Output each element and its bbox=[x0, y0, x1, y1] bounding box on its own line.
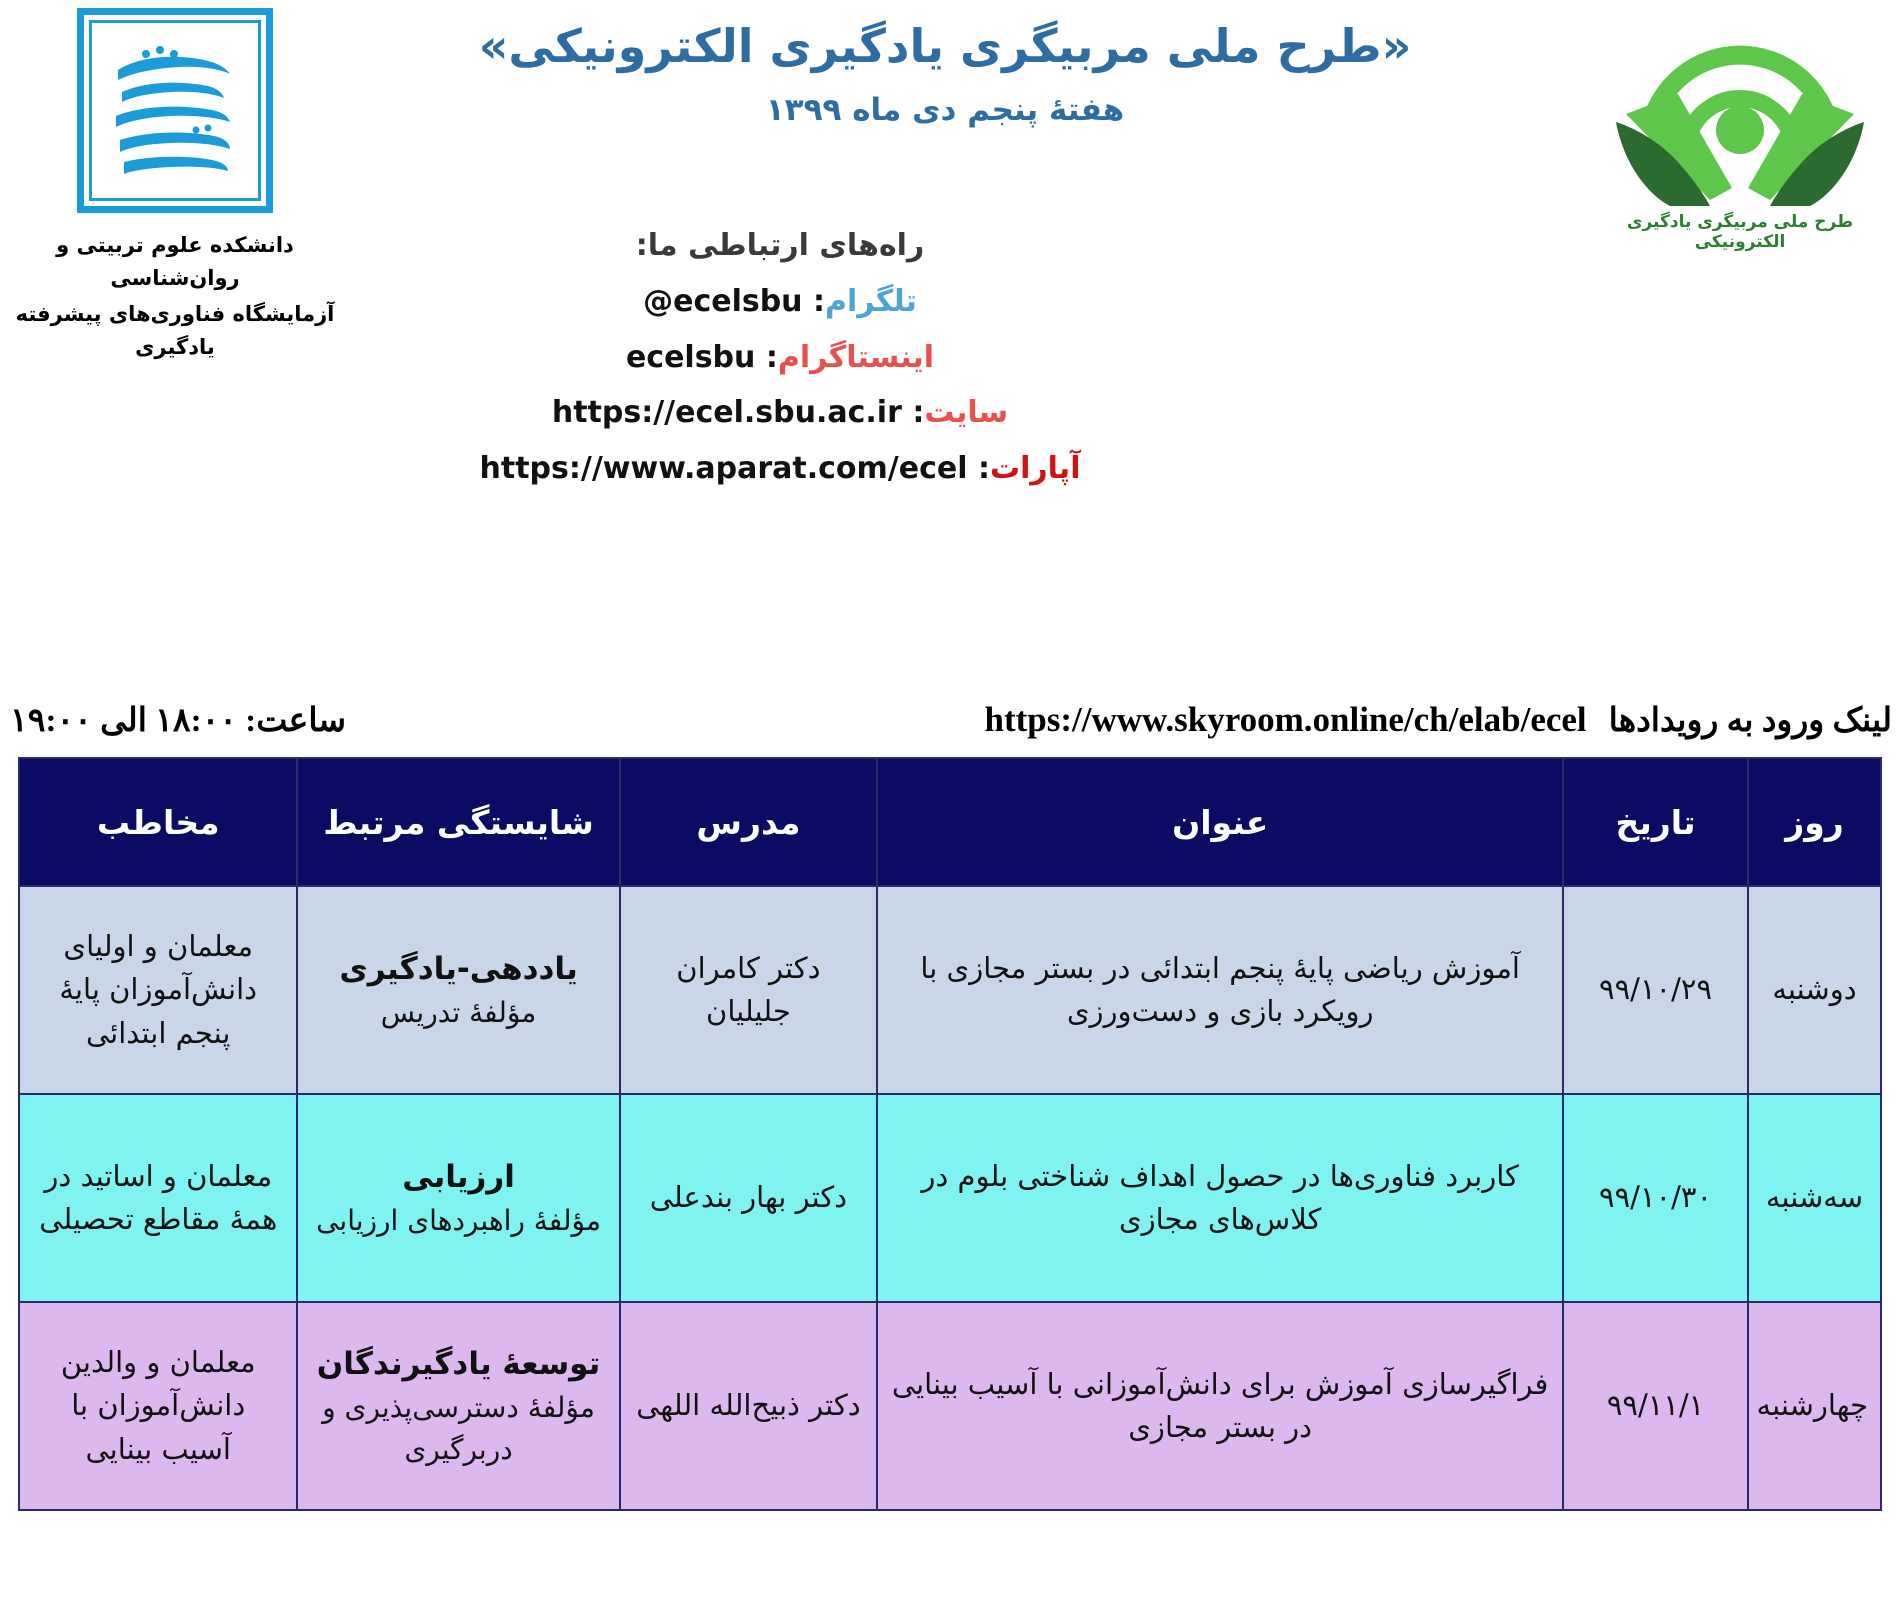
schedule-table-body: دوشنبه ۹۹/۱۰/۲۹ آموزش ریاضی پایهٔ پنجم ا… bbox=[19, 886, 1881, 1510]
cell-teacher: دکتر ذبیح‌الله اللهی bbox=[620, 1302, 878, 1510]
website-label: سایت bbox=[924, 395, 1008, 430]
cell-competency: یاددهی-یادگیری مؤلفهٔ تدریس bbox=[297, 886, 619, 1094]
column-header-day: روز bbox=[1748, 758, 1881, 886]
cell-day: چهارشنبه bbox=[1748, 1302, 1881, 1510]
separator-colon: : bbox=[755, 340, 777, 375]
page-subtitle: هفتهٔ پنجم دی ماه ۱۳۹۹ bbox=[370, 92, 1520, 128]
column-header-teacher: مدرس bbox=[620, 758, 878, 886]
instagram-handle[interactable]: ecelsbu bbox=[626, 340, 755, 375]
cell-date: ۹۹/۱۰/۲۹ bbox=[1563, 886, 1748, 1094]
aparat-url[interactable]: https://www.aparat.com/ecel bbox=[480, 451, 968, 486]
cell-teacher: دکتر بهار بندعلی bbox=[620, 1094, 878, 1302]
schedule-table-head: روز تاریخ عنوان مدرس شایستگی مرتبط مخاطب bbox=[19, 758, 1881, 886]
poster-page: دانشکده علوم تربیتی و روان‌شناسی آزمایشگ… bbox=[0, 0, 1900, 1620]
event-time: ساعت: ۱۸:۰۰ الی ۱۹:۰۰ bbox=[0, 700, 346, 740]
cell-audience: معلمان و والدین دانش‌آموزان با آسیب بینا… bbox=[19, 1302, 297, 1510]
cell-audience: معلمان و اساتید در همهٔ مقاطع تحصیلی bbox=[19, 1094, 297, 1302]
column-header-audience: مخاطب bbox=[19, 758, 297, 886]
skyroom-event-url[interactable]: https://www.skyroom.online/ch/elab/ecel bbox=[985, 700, 1587, 740]
cell-title: کاربرد فناوری‌ها در حصول اهداف شناختی بل… bbox=[877, 1094, 1563, 1302]
competency-subtitle: مؤلفهٔ راهبردهای ارزیابی bbox=[310, 1200, 606, 1242]
contact-row-website: سایت: https://ecel.sbu.ac.ir bbox=[470, 396, 1090, 431]
separator-colon: : bbox=[902, 395, 924, 430]
competency-subtitle: مؤلفهٔ دسترسی‌پذیری و دربرگیری bbox=[310, 1387, 606, 1471]
ecel-wifi-hands-icon bbox=[1614, 10, 1866, 206]
competency-title: توسعهٔ یادگیرندگان bbox=[310, 1341, 606, 1388]
ecel-logo-caption: طرح ملی مربیگری یادگیری الکترونیکی bbox=[1590, 212, 1890, 252]
table-header-row: روز تاریخ عنوان مدرس شایستگی مرتبط مخاطب bbox=[19, 758, 1881, 886]
cell-teacher: دکتر کامران جلیلیان bbox=[620, 886, 878, 1094]
cell-date: ۹۹/۱۱/۱ bbox=[1563, 1302, 1748, 1510]
page-title: «طرح ملی مربیگری یادگیری الکترونیکی» bbox=[370, 18, 1520, 76]
ecel-logo-block: طرح ملی مربیگری یادگیری الکترونیکی bbox=[1590, 10, 1890, 252]
poster-header: دانشکده علوم تربیتی و روان‌شناسی آزمایشگ… bbox=[0, 0, 1900, 600]
instagram-label: اینستاگرام bbox=[778, 340, 934, 375]
table-row: سه‌شنبه ۹۹/۱۰/۳۰ کاربرد فناوری‌ها در حصو… bbox=[19, 1094, 1881, 1302]
faculty-name: دانشکده علوم تربیتی و روان‌شناسی bbox=[0, 229, 350, 294]
contact-block: راه‌های ارتباطی ما: تلگرام: @ecelsbu این… bbox=[470, 228, 1090, 507]
title-block: «طرح ملی مربیگری یادگیری الکترونیکی» هفت… bbox=[370, 18, 1520, 128]
event-link-bar: لینک ورود به رویدادها https://www.skyroo… bbox=[0, 690, 1900, 750]
contact-row-instagram: اینستاگرام: ecelsbu bbox=[470, 341, 1090, 376]
separator-colon: : bbox=[968, 451, 990, 486]
competency-subtitle: مؤلفهٔ تدریس bbox=[310, 992, 606, 1034]
telegram-handle[interactable]: @ecelsbu bbox=[643, 284, 802, 319]
cell-title: فراگیرسازی آموزش برای دانش‌آموزانی با آس… bbox=[877, 1302, 1563, 1510]
contact-heading: راه‌های ارتباطی ما: bbox=[470, 228, 1090, 263]
competency-title: ارزیابی bbox=[310, 1154, 606, 1201]
column-header-title: عنوان bbox=[877, 758, 1563, 886]
cell-day: سه‌شنبه bbox=[1748, 1094, 1881, 1302]
event-link-label: لینک ورود به رویدادها bbox=[1609, 700, 1900, 740]
aparat-label: آپارات bbox=[990, 451, 1081, 486]
cell-audience: معلمان و اولیای دانش‌آموزان پایهٔ پنجم ا… bbox=[19, 886, 297, 1094]
competency-title: یاددهی-یادگیری bbox=[310, 946, 606, 993]
logo-frame bbox=[89, 20, 261, 201]
cell-competency: ارزیابی مؤلفهٔ راهبردهای ارزیابی bbox=[297, 1094, 619, 1302]
separator-colon: : bbox=[803, 284, 825, 319]
contact-row-aparat: آپارات: https://www.aparat.com/ecel bbox=[470, 452, 1090, 487]
cell-title: آموزش ریاضی پایهٔ پنجم ابتدائی در بستر م… bbox=[877, 886, 1563, 1094]
laboratory-name: آزمایشگاه فناوری‌های پیشرفته یادگیری bbox=[0, 298, 350, 363]
column-header-competency: شایستگی مرتبط bbox=[297, 758, 619, 886]
website-url[interactable]: https://ecel.sbu.ac.ir bbox=[552, 395, 902, 430]
cell-competency: توسعهٔ یادگیرندگان مؤلفهٔ دسترسی‌پذیری و… bbox=[297, 1302, 619, 1510]
shahid-beheshti-university-logo bbox=[77, 8, 273, 213]
schedule-table: روز تاریخ عنوان مدرس شایستگی مرتبط مخاطب… bbox=[18, 757, 1882, 1511]
university-logo-block: دانشکده علوم تربیتی و روان‌شناسی آزمایشگ… bbox=[0, 8, 350, 363]
cell-day: دوشنبه bbox=[1748, 886, 1881, 1094]
table-row: دوشنبه ۹۹/۱۰/۲۹ آموزش ریاضی پایهٔ پنجم ا… bbox=[19, 886, 1881, 1094]
cell-date: ۹۹/۱۰/۳۰ bbox=[1563, 1094, 1748, 1302]
table-row: چهارشنبه ۹۹/۱۱/۱ فراگیرسازی آموزش برای د… bbox=[19, 1302, 1881, 1510]
contact-row-telegram: تلگرام: @ecelsbu bbox=[470, 285, 1090, 320]
telegram-label: تلگرام bbox=[825, 284, 917, 319]
column-header-date: تاریخ bbox=[1563, 758, 1748, 886]
schedule-table-wrapper: روز تاریخ عنوان مدرس شایستگی مرتبط مخاطب… bbox=[18, 757, 1882, 1511]
